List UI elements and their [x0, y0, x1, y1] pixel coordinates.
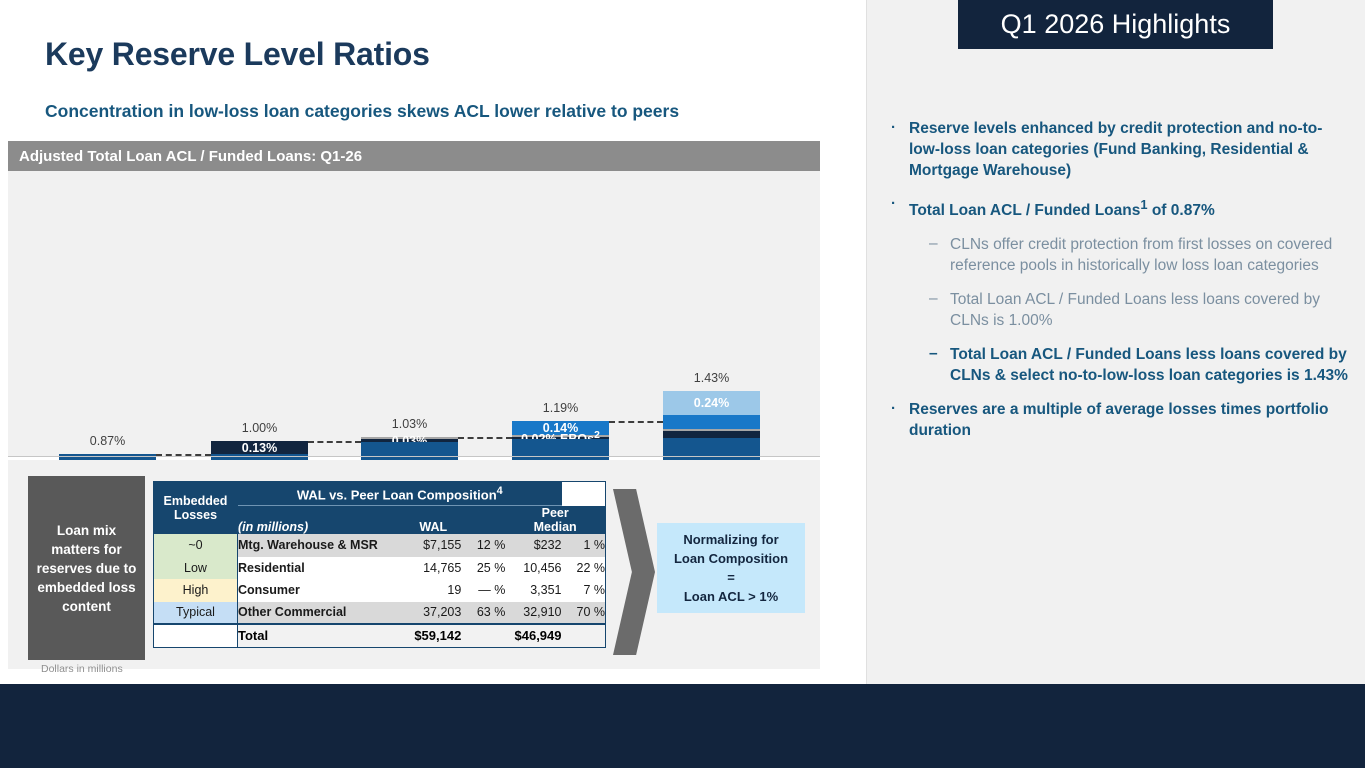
cell-peer-pct: 1 % [562, 534, 606, 557]
highlights-bullet-list: ·Reserve levels enhanced by credit prote… [886, 118, 1348, 454]
bullet-marker-icon: · [891, 117, 896, 138]
dollars-in-millions-note: Dollars in millions [41, 663, 123, 675]
bar-segment-5-increment-light: 0.24% [663, 391, 760, 415]
highlight-bullet-5: –Total Loan ACL / Funded Loans less loan… [929, 344, 1348, 386]
header-in-millions: (in millions) [238, 506, 406, 535]
highlight-bullet-4: –Total Loan ACL / Funded Loans less loan… [929, 289, 1348, 331]
table-row: TypicalOther Commercial37,20363 %32,9107… [154, 602, 606, 625]
cell-wal-pct: — % [461, 579, 505, 602]
bar-segment-label-5-0: 0.24% [694, 396, 729, 410]
bar-total-label-3: 1.03% [361, 417, 458, 431]
bar-connector-4 [609, 421, 663, 423]
header-peer-median: Peer Median [505, 506, 605, 535]
loan-mix-callout: Loan mix matters for reserves due to emb… [28, 476, 145, 660]
header-embedded-losses-line2: Losses [154, 508, 237, 522]
cell-wal-pct: 25 % [461, 557, 505, 580]
bar-segment-5-ebos [663, 431, 760, 438]
bar-chart-panel: 0.87%Total Loan ACL /Funded Loans111.00%… [8, 171, 820, 456]
bar-total-label-2: 1.00% [211, 421, 308, 435]
cell-total-label: Total [238, 624, 406, 647]
header-embedded-losses: Embedded Losses [154, 482, 238, 535]
bar-connector-3 [458, 437, 512, 439]
cell-peer: 32,910 [505, 602, 561, 625]
slide-root: Key Reserve Level Ratios Concentration i… [0, 0, 1365, 768]
highlight-bullet-2: ·Total Loan ACL / Funded Loans1 of 0.87% [886, 194, 1348, 221]
cell-wal: 19 [405, 579, 461, 602]
cell-embedded-losses: ~0 [154, 534, 238, 557]
cell-peer: $232 [505, 534, 561, 557]
footnote-marker-4: 4 [497, 485, 503, 497]
cell-peer-pct: 22 % [562, 557, 606, 580]
header-composition: WAL vs. Peer Loan Composition4 [238, 482, 562, 506]
bullet-text: Total Loan ACL / Funded Loans1 of 0.87% [909, 202, 1215, 219]
bullet-text: Reserve levels enhanced by credit protec… [909, 120, 1322, 179]
cell-peer-pct: 70 % [562, 602, 606, 625]
bar-segment-5-increment-medium [663, 415, 760, 429]
bar-total-label-1: 0.87% [59, 434, 156, 448]
bullet-text: CLNs offer credit protection from first … [950, 236, 1332, 274]
highlight-bullet-3: –CLNs offer credit protection from first… [929, 234, 1348, 276]
cell-category: Mtg. Warehouse & MSR [238, 534, 406, 557]
highlight-bullet-6: ·Reserves are a multiple of average loss… [886, 399, 1348, 441]
header-embedded-losses-line1: Embedded [154, 494, 237, 508]
normalizing-line-3: = [727, 568, 735, 587]
table-row: HighConsumer19— %3,3517 % [154, 579, 606, 602]
bullet-marker-icon: – [929, 343, 938, 364]
table-row: ~0Mtg. Warehouse & MSR$7,15512 %$2321 % [154, 534, 606, 557]
normalizing-line-2: Loan Composition [674, 549, 788, 568]
cell-category: Residential [238, 557, 406, 580]
cell-category: Consumer [238, 579, 406, 602]
highlight-bullet-1: ·Reserve levels enhanced by credit prote… [886, 118, 1348, 181]
bar-chart: 0.87%Total Loan ACL /Funded Loans111.00%… [8, 171, 820, 456]
cell-peer: 3,351 [505, 579, 561, 602]
cell-total-peer: $46,949 [505, 624, 561, 647]
bullet-text: Total Loan ACL / Funded Loans less loans… [950, 346, 1348, 384]
cell-embedded-losses: Low [154, 557, 238, 580]
section-divider [8, 456, 820, 457]
cell-wal-pct: 12 % [461, 534, 505, 557]
bullet-marker-icon: – [929, 288, 938, 309]
cell-total-embedded [154, 624, 238, 647]
table-body: ~0Mtg. Warehouse & MSR$7,15512 %$2321 %L… [154, 534, 606, 647]
bullet-text: Reserves are a multiple of average losse… [909, 401, 1329, 439]
loan-composition-table: Embedded Losses WAL vs. Peer Loan Compos… [153, 481, 606, 648]
table-head: Embedded Losses WAL vs. Peer Loan Compos… [154, 482, 606, 535]
cell-peer: 10,456 [505, 557, 561, 580]
bar-total-label-5: 1.43% [663, 371, 760, 385]
cell-category: Other Commercial [238, 602, 406, 625]
bullet-marker-icon: · [891, 398, 896, 419]
header-wal: WAL [405, 506, 461, 535]
slide-footer: Western Alliance Bancorporation® 1)Total… [0, 684, 1365, 768]
header-wal-pct [461, 506, 505, 535]
cell-wal: 14,765 [405, 557, 461, 580]
cell-total-wal-pct [461, 624, 505, 647]
cell-peer-pct: 7 % [562, 579, 606, 602]
cell-wal: 37,203 [405, 602, 461, 625]
bar-segment-label-2-0: 0.13% [242, 441, 277, 455]
bullet-text: Total Loan ACL / Funded Loans less loans… [950, 291, 1320, 329]
cell-wal: $7,155 [405, 534, 461, 557]
page-subtitle: Concentration in low-loss loan categorie… [45, 101, 679, 122]
cell-embedded-losses: Typical [154, 602, 238, 625]
cell-wal-pct: 63 % [461, 602, 505, 625]
bar-total-label-4: 1.19% [512, 401, 609, 415]
bullet-marker-icon: · [891, 193, 896, 214]
cell-total-peer-pct [562, 624, 606, 647]
bullet-marker-icon: – [929, 233, 938, 254]
cell-embedded-losses: High [154, 579, 238, 602]
normalizing-line-4: Loan ACL > 1% [684, 587, 778, 606]
chart-panel-header: Adjusted Total Loan ACL / Funded Loans: … [8, 141, 820, 171]
highlights-banner: Q1 2026 Highlights [958, 0, 1273, 49]
page-title: Key Reserve Level Ratios [45, 36, 430, 73]
normalizing-callout: Normalizing for Loan Composition = Loan … [657, 523, 805, 613]
cell-total-wal: $59,142 [405, 624, 461, 647]
table-row: LowResidential14,76525 %10,45622 % [154, 557, 606, 580]
bar-connector-2 [308, 441, 361, 443]
bar-segment-2-increment: 0.13% [211, 441, 308, 454]
normalizing-line-1: Normalizing for [683, 530, 778, 549]
table-total-row: Total$59,142$46,949 [154, 624, 606, 647]
